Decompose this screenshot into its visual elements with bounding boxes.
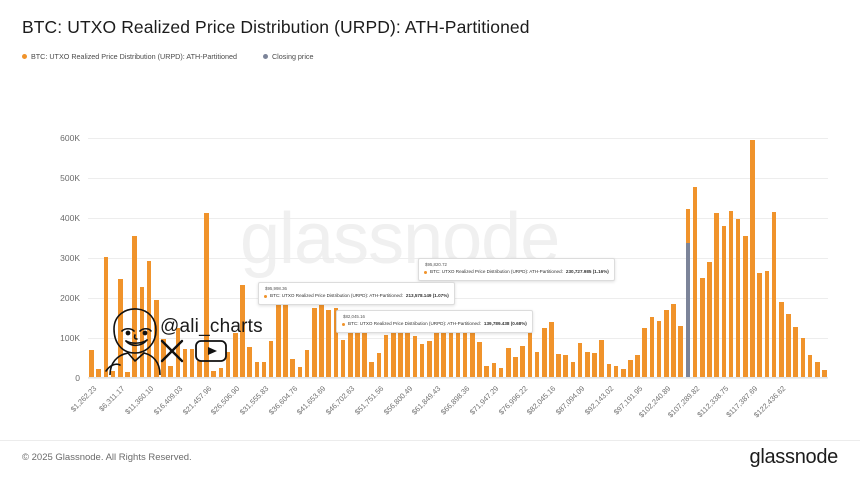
tooltip-upper-row: BTC: UTXO Realized Price Distribution (U…	[424, 269, 609, 276]
x-axis-tick-label: $71,947.29	[468, 384, 501, 417]
x-axis-tick-label: $82,045.16	[525, 384, 558, 417]
bar[interactable]	[305, 350, 310, 378]
tooltip-lower-row: BTC: UTXO Realized Price Distribution (U…	[342, 321, 527, 328]
bar[interactable]	[528, 329, 533, 378]
footer-brand-logo: glassnode	[750, 446, 838, 469]
bar[interactable]	[678, 326, 683, 378]
bar[interactable]	[326, 310, 331, 378]
bar[interactable]	[765, 271, 770, 378]
bar[interactable]	[779, 302, 784, 378]
bar[interactable]	[700, 278, 705, 378]
x-axis-tick-label: $61,849.43	[410, 384, 443, 417]
bar[interactable]	[563, 355, 568, 378]
legend-item-urpd[interactable]: BTC: UTXO Realized Price Distribution (U…	[22, 52, 237, 61]
tooltip-lower: $82,045.16 BTC: UTXO Realized Price Dist…	[336, 310, 533, 333]
tooltip-upper-series: BTC: UTXO Realized Price Distribution (U…	[430, 269, 563, 276]
y-axis-tick-label: 100K	[60, 333, 80, 343]
footer-copyright: © 2025 Glassnode. All Rights Reserved.	[22, 452, 192, 463]
bar[interactable]	[571, 362, 576, 378]
x-axis-tick-label: $92,143.02	[583, 384, 616, 417]
bar[interactable]	[714, 213, 719, 378]
legend-label-closing-price: Closing price	[272, 52, 314, 61]
bar-closing-price[interactable]	[686, 243, 691, 378]
bar[interactable]	[377, 353, 382, 378]
y-axis-tick-label: 500K	[60, 173, 80, 183]
bar[interactable]	[729, 211, 734, 378]
bar[interactable]	[592, 353, 597, 378]
bar[interactable]	[642, 328, 647, 378]
bar[interactable]	[772, 212, 777, 378]
y-axis-tick-label: 600K	[60, 133, 80, 143]
bar[interactable]	[585, 352, 590, 378]
bar[interactable]	[808, 355, 813, 378]
bar[interactable]	[319, 305, 324, 378]
tooltip-middle-series: BTC: UTXO Realized Price Distribution (U…	[270, 293, 403, 300]
bar[interactable]	[369, 362, 374, 378]
bar[interactable]	[420, 344, 425, 378]
bar[interactable]	[341, 340, 346, 378]
bar[interactable]	[635, 355, 640, 378]
legend-dot-closing-price	[263, 54, 268, 59]
gridline	[88, 138, 828, 139]
bar[interactable]	[556, 354, 561, 378]
x-axis-tick-label: $16,409.03	[152, 384, 185, 417]
bar[interactable]	[750, 140, 755, 378]
x-axis-tick-label: $36,604.76	[267, 384, 300, 417]
bar[interactable]	[549, 322, 554, 378]
tooltip-upper: $95,820.72 BTC: UTXO Realized Price Dist…	[418, 258, 615, 281]
legend-dot-urpd	[22, 54, 27, 59]
x-axis-baseline	[88, 377, 828, 378]
tooltip-upper-header: $95,820.72	[424, 262, 609, 269]
bar[interactable]	[89, 350, 94, 378]
bar[interactable]	[786, 314, 791, 378]
y-axis-tick-label: 400K	[60, 213, 80, 223]
tooltip-middle-dot	[264, 295, 267, 298]
bar[interactable]	[707, 262, 712, 378]
bar[interactable]	[722, 226, 727, 378]
x-axis-labels: $1,262.23$6,311.17$11,360.10$16,409.03$2…	[88, 384, 828, 454]
bar[interactable]	[542, 328, 547, 378]
bar[interactable]	[290, 359, 295, 378]
x-axis-tick-label: $56,800.49	[382, 384, 415, 417]
x-axis-tick-label: $87,094.09	[554, 384, 587, 417]
bar[interactable]	[477, 342, 482, 378]
tooltip-lower-value: 139,789.438 (0.68%)	[484, 321, 527, 328]
legend-label-urpd: BTC: UTXO Realized Price Distribution (U…	[31, 52, 237, 61]
x-axis-tick-label: $21,457.96	[180, 384, 213, 417]
bar[interactable]	[657, 321, 662, 378]
page-title: BTC: UTXO Realized Price Distribution (U…	[22, 17, 530, 38]
bar[interactable]	[736, 219, 741, 378]
tooltip-middle-row: BTC: UTXO Realized Price Distribution (U…	[264, 293, 449, 300]
bar[interactable]	[405, 327, 410, 378]
bar[interactable]	[398, 333, 403, 378]
legend-item-closing-price[interactable]: Closing price	[263, 52, 314, 61]
ali-charts-handle: @ali_charts	[160, 316, 263, 338]
x-axis-tick-label: $46,702.63	[324, 384, 357, 417]
bar[interactable]	[535, 352, 540, 378]
x-axis-tick-label: $11,360.10	[123, 384, 155, 416]
bar[interactable]	[801, 338, 806, 378]
y-axis-tick-label: 300K	[60, 253, 80, 263]
tooltip-middle-value: 213,578.149 (1.07%)	[406, 293, 449, 300]
tooltip-upper-value: 230,727.985 (1.16%)	[566, 269, 609, 276]
bar[interactable]	[312, 308, 317, 378]
bar[interactable]	[578, 343, 583, 378]
bar[interactable]	[607, 364, 612, 378]
tooltip-lower-header: $82,045.16	[342, 314, 527, 321]
x-axis-tick-label: $66,898.36	[439, 384, 472, 417]
bar[interactable]	[815, 362, 820, 378]
gridline	[88, 178, 828, 179]
x-axis-tick-label: $76,996.22	[496, 384, 529, 417]
bar[interactable]	[520, 346, 525, 378]
tooltip-lower-series: BTC: UTXO Realized Price Distribution (U…	[348, 321, 481, 328]
bar[interactable]	[427, 341, 432, 378]
bar[interactable]	[384, 335, 389, 378]
bar[interactable]	[693, 187, 698, 378]
y-axis-tick-label: 0	[75, 373, 80, 383]
bar[interactable]	[757, 273, 762, 378]
bar[interactable]	[470, 333, 475, 378]
gridline	[88, 378, 828, 379]
bar[interactable]	[599, 340, 604, 378]
y-axis-tick-label: 200K	[60, 293, 80, 303]
footer-divider	[0, 440, 860, 441]
bar[interactable]	[413, 336, 418, 378]
chart-legend: BTC: UTXO Realized Price Distribution (U…	[22, 52, 314, 61]
bar[interactable]	[671, 304, 676, 378]
x-axis-tick-label: $1,262.23	[68, 384, 98, 414]
bar[interactable]	[506, 348, 511, 378]
bar[interactable]	[492, 363, 497, 378]
x-axis-tick-label: $31,555.83	[238, 384, 271, 417]
tooltip-upper-dot	[424, 271, 427, 274]
bar[interactable]	[743, 236, 748, 378]
tooltip-middle-header: $95,998.36	[264, 286, 449, 293]
bar[interactable]	[664, 310, 669, 378]
tooltip-middle: $95,998.36 BTC: UTXO Realized Price Dist…	[258, 282, 455, 305]
tooltip-lower-dot	[342, 323, 345, 326]
x-axis-tick-label: $51,751.56	[353, 384, 386, 417]
bar[interactable]	[513, 357, 518, 378]
bar[interactable]	[793, 327, 798, 378]
x-axis-tick-label: $26,506.90	[209, 384, 242, 417]
bar[interactable]	[628, 360, 633, 378]
bar[interactable]	[650, 317, 655, 378]
bar[interactable]	[391, 330, 396, 378]
x-axis-tick-label: $41,653.69	[295, 384, 328, 417]
